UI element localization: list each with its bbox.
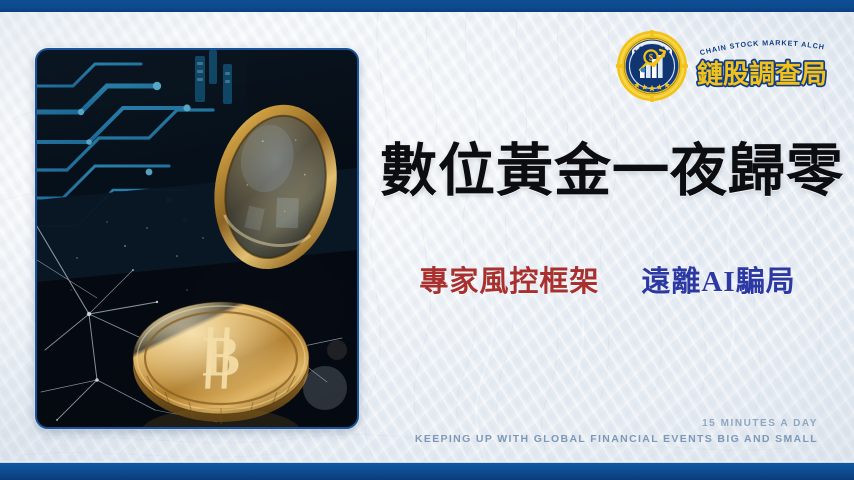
bottom-brand-bar [0,463,854,480]
page-title: 數位黃金一夜歸零 [380,142,835,202]
slide-canvas: B [0,0,854,480]
footer-line-1: 15 MINUTES A DAY [415,417,818,432]
footer-tagline: 15 MINUTES A DAY KEEPING UP WITH GLOBAL … [415,417,818,447]
top-brand-bar [0,0,854,12]
headline-block: 數位黃金一夜歸零 [380,142,835,202]
subtitle-row: 專家風控框架 遠離AI騙局 [380,258,835,300]
bitcoin-coin-magnifier-photo: B [37,50,357,427]
svg-text:鏈股調查局: 鏈股調查局 [697,59,827,89]
subtitle-left: 專家風控框架 [419,258,599,300]
footer-line-2: KEEPING UP WITH GLOBAL FINANCIAL EVENTS … [415,432,818,447]
brand-seal-icon: $ [616,30,688,102]
brand-wordmark: CHAIN STOCK MARKET ALCHEMY 鏈股調查局 鏈股調查局 [694,36,830,94]
svg-text:$: $ [649,52,654,62]
photo-frame: B [35,48,359,429]
svg-text:CHAIN STOCK MARKET ALCHEMY: CHAIN STOCK MARKET ALCHEMY [694,36,826,57]
brand-logo[interactable]: $ CHAIN STOCK MARKET ALCHEMY [616,30,831,102]
subtitle-right: 遠離AI騙局 [641,258,795,300]
